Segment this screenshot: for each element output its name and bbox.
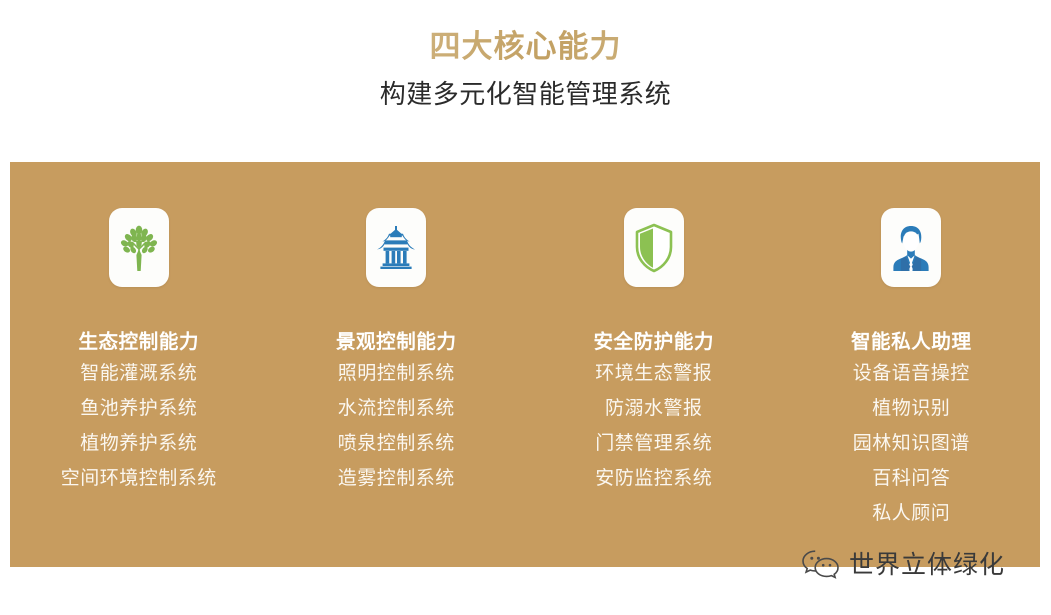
list-item[interactable]: 鱼池养护系统 [80,399,197,418]
person-icon [889,224,933,272]
column-item-list: 设备语音操控 植物识别 园林知识图谱 百科问答 私人顾问 [853,364,970,523]
list-item[interactable]: 门禁管理系统 [595,434,712,453]
list-item[interactable]: 植物识别 [872,399,950,418]
column-heading: 安全防护能力 [593,330,714,353]
list-item[interactable]: 设备语音操控 [853,364,970,383]
column-heading: 生态控制能力 [78,330,199,353]
list-item[interactable]: 环境生态警报 [595,364,712,383]
capability-column-landscape[interactable]: 景观控制能力 照明控制系统 水流控制系统 喷泉控制系统 造雾控制系统 [268,208,526,488]
shield-icon-card[interactable] [624,208,684,287]
page-title: 四大核心能力 [0,29,1051,66]
list-item[interactable]: 喷泉控制系统 [338,434,455,453]
pavilion-icon [374,225,418,271]
capability-column-security[interactable]: 安全防护能力 环境生态警报 防溺水警报 门禁管理系统 安防监控系统 [525,208,783,488]
list-item[interactable]: 智能灌溉系统 [80,364,197,383]
tree-icon-card[interactable] [109,208,169,287]
column-item-list: 照明控制系统 水流控制系统 喷泉控制系统 造雾控制系统 [338,364,455,488]
column-heading: 智能私人助理 [851,330,972,353]
capability-columns: 生态控制能力 智能灌溉系统 鱼池养护系统 植物养护系统 空间环境控制系统 [10,162,1040,567]
list-item[interactable]: 防溺水警报 [605,399,703,418]
list-item[interactable]: 园林知识图谱 [853,434,970,453]
capability-column-ecology[interactable]: 生态控制能力 智能灌溉系统 鱼池养护系统 植物养护系统 空间环境控制系统 [10,208,268,488]
tree-icon [118,224,160,272]
shield-icon [634,223,674,273]
page-header: 四大核心能力 构建多元化智能管理系统 [0,0,1051,150]
column-item-list: 智能灌溉系统 鱼池养护系统 植物养护系统 空间环境控制系统 [61,364,217,488]
list-item[interactable]: 照明控制系统 [338,364,455,383]
list-item[interactable]: 水流控制系统 [338,399,455,418]
column-item-list: 环境生态警报 防溺水警报 门禁管理系统 安防监控系统 [595,364,712,488]
list-item[interactable]: 百科问答 [872,469,950,488]
watermark-text: 世界立体绿化 [849,552,1005,577]
column-heading: 景观控制能力 [336,330,457,353]
list-item[interactable]: 安防监控系统 [595,469,712,488]
list-item[interactable]: 私人顾问 [872,504,950,523]
wechat-icon [800,548,840,580]
list-item[interactable]: 造雾控制系统 [338,469,455,488]
watermark: 世界立体绿化 [800,548,1005,580]
page-subtitle: 构建多元化智能管理系统 [0,79,1051,112]
list-item[interactable]: 空间环境控制系统 [61,469,217,488]
list-item[interactable]: 植物养护系统 [80,434,197,453]
capability-column-assistant[interactable]: 智能私人助理 设备语音操控 植物识别 园林知识图谱 百科问答 私人顾问 [783,208,1041,523]
person-icon-card[interactable] [881,208,941,287]
pavilion-icon-card[interactable] [366,208,426,287]
